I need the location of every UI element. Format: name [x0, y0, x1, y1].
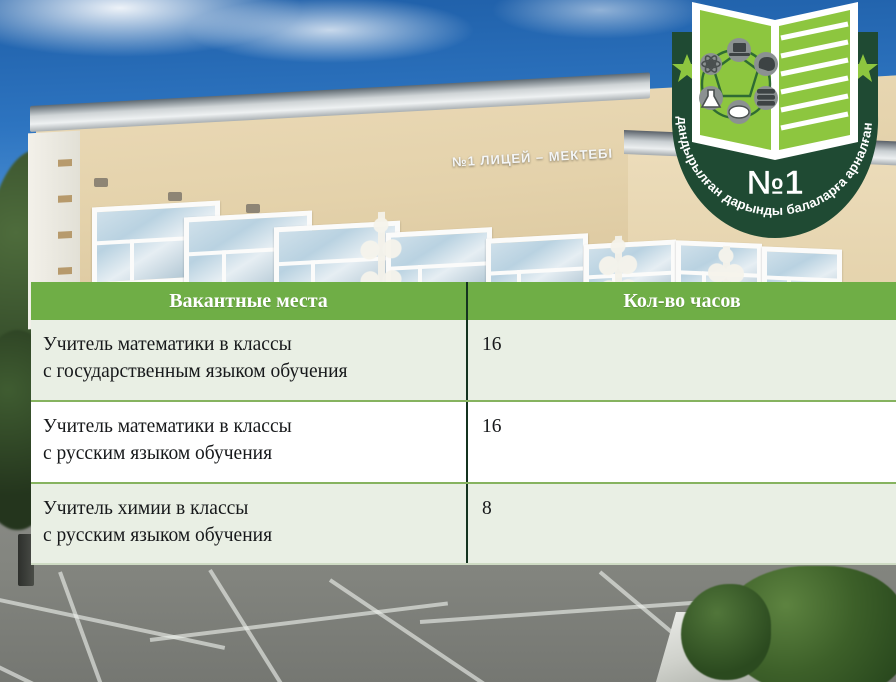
position-line-1: Учитель химии в классы [43, 496, 466, 523]
cell-position: Учитель химии в классы с русским языком … [31, 483, 467, 565]
cell-position: Учитель математики в классы с русским яз… [31, 401, 467, 483]
logo-number: №1 [747, 164, 804, 202]
table-header-row: Вакантные места Кол-во часов [31, 282, 896, 320]
poster-canvas: №1 ЛИЦЕЙ – МЕКТЕБІ Мамандандырылған дары… [0, 0, 896, 682]
position-line-2: с русским языком обучения [43, 441, 466, 468]
vacancies-table: Вакантные места Кол-во часов Учитель мат… [31, 282, 896, 565]
position-line-2: с государственным языком обучения [43, 359, 466, 386]
table-row: Учитель математики в классы с государств… [31, 320, 896, 401]
cell-hours: 16 [467, 320, 896, 401]
position-line-2: с русским языком обучения [43, 523, 466, 550]
mouse-pointer-icon [727, 100, 751, 124]
atom-icon [700, 53, 722, 75]
books-icon [754, 86, 778, 110]
cell-hours: 8 [467, 483, 896, 565]
flask-icon [699, 86, 723, 110]
wall-lamp [246, 204, 260, 213]
column-header-hours: Кол-во часов [467, 282, 896, 320]
wall-lamp [94, 178, 108, 187]
mouse-icon [754, 52, 778, 76]
position-line-1: Учитель математики в классы [43, 332, 466, 359]
table-row: Учитель химии в классы с русским языком … [31, 483, 896, 565]
school-logo: Мамандандырылған дарынды балаларға арнал… [652, 0, 896, 254]
position-line-1: Учитель математики в классы [43, 414, 466, 441]
column-header-positions: Вакантные места [31, 282, 467, 320]
laptop-icon [727, 38, 751, 62]
cell-position: Учитель математики в классы с государств… [31, 320, 467, 401]
cell-hours: 16 [467, 401, 896, 483]
bush-right [721, 566, 896, 682]
table-row: Учитель математики в классы с русским яз… [31, 401, 896, 483]
wall-lamp [168, 192, 182, 201]
